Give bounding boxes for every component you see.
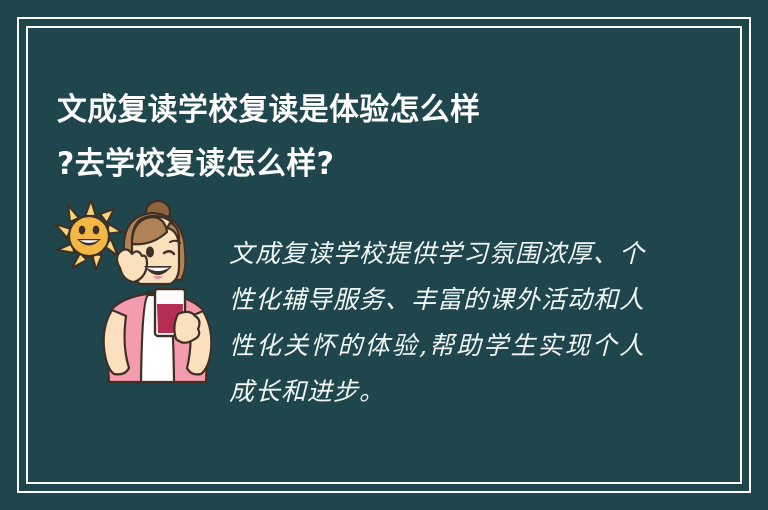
girl-figure [104, 201, 212, 382]
poster-canvas: 文成复读学校复读是体验怎么样 ?去学校复读怎么样? [0, 0, 768, 510]
page-title: 文成复读学校复读是体验怎么样 ?去学校复读怎么样? [57, 83, 671, 191]
sun-icon [55, 200, 122, 270]
body-paragraph: 文成复读学校提供学习氛围浓厚、个性化辅导服务、丰富的课外活动和人性化关怀的体验,… [229, 231, 645, 415]
illustration-girl-with-drink-and-sun [52, 196, 212, 404]
